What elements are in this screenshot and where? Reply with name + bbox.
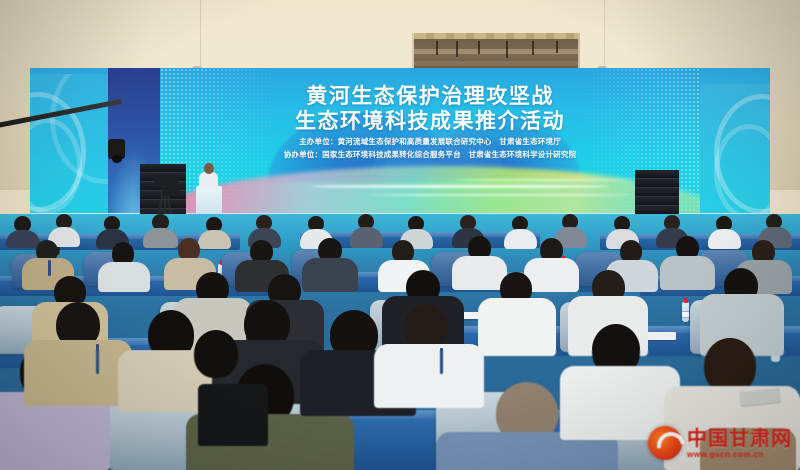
backdrop-light-streak (310, 185, 610, 188)
ceiling-hanger (506, 41, 508, 58)
ceiling-hanger (456, 41, 458, 57)
crane-camera-lens-icon (112, 155, 122, 163)
backpack (198, 384, 268, 446)
event-title-line-2: 生态环境科技成果推介活动 (160, 109, 700, 134)
organizer-line-1: 主办单位：黄河流域生态保护和高质量发展联合研究中心 甘肃省生态环境厅 (160, 136, 700, 147)
ceiling-hanger (436, 41, 438, 55)
event-title-line-1: 黄河生态保护治理攻坚战 (160, 84, 700, 109)
pa-speaker-stack-right (635, 170, 679, 215)
ceiling-beam (414, 61, 578, 66)
ceiling-hanger (556, 41, 558, 53)
backdrop-light-streak (460, 179, 630, 181)
organizer-line-2: 协办单位：国家生态环境科技成果转化综合服务平台 甘肃省生态环境科学设计研究院 (160, 149, 700, 160)
ceiling-beam (414, 49, 578, 54)
watermark-site-name: 中国甘肃网 (687, 428, 792, 448)
water-bottle (682, 302, 689, 322)
presenter-body (199, 172, 218, 190)
window-top-tape (414, 33, 578, 39)
ceiling-hanger (478, 41, 480, 54)
presenter-head (204, 163, 214, 174)
led-wing-left (30, 74, 108, 218)
event-photo: 黄河生态保护治理攻坚战 生态环境科技成果推介活动 主办单位：黄河流域生态保护和高… (0, 0, 800, 470)
backdrop-light-streak (370, 194, 630, 196)
led-text-block: 黄河生态保护治理攻坚战 生态环境科技成果推介活动 主办单位：黄河流域生态保护和高… (160, 84, 700, 160)
watermark: 中国甘肃网 www.gscn.com.cn (648, 426, 792, 460)
led-main-panel: 黄河生态保护治理攻坚战 生态环境科技成果推介活动 主办单位：黄河流域生态保护和高… (160, 68, 700, 218)
gansu-net-logo-icon (648, 426, 682, 460)
watermark-url: www.gscn.com.cn (687, 451, 792, 459)
paper-sheet (646, 332, 676, 340)
led-wing-right (692, 84, 770, 218)
ceiling-hanger (532, 41, 534, 55)
